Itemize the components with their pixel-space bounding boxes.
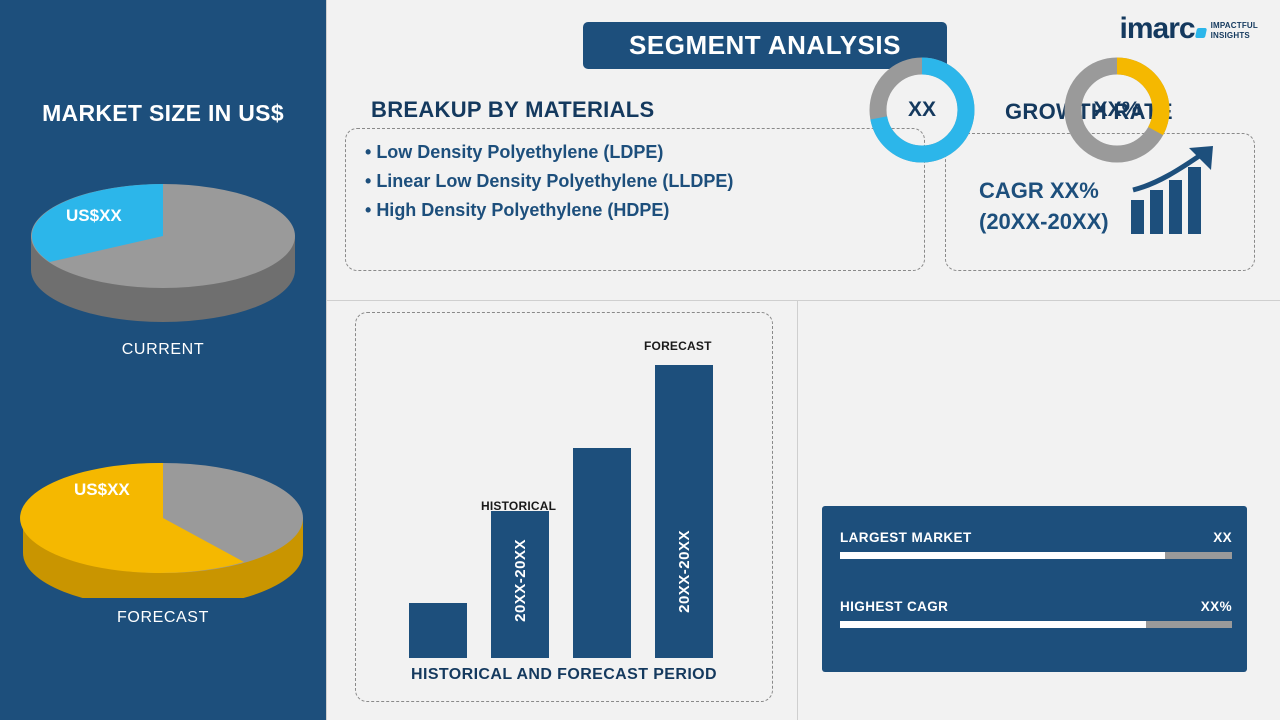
segment-analysis-banner-label: SEGMENT ANALYSIS	[629, 30, 901, 61]
cagr-line-1: CAGR XX%	[979, 175, 1109, 206]
stat-progress-fill	[840, 621, 1146, 628]
imarc-logo-accent-icon	[1195, 28, 1207, 38]
stat-progress-track	[840, 621, 1232, 628]
stat-progress-track	[840, 552, 1232, 559]
period-chart-caption: HISTORICAL AND FORECAST PERIOD	[355, 666, 773, 684]
vertical-divider	[797, 301, 798, 720]
current-pie-value: US$XX	[66, 206, 122, 226]
materials-list-item: Linear Low Density Polyethylene (LLDPE)	[365, 167, 733, 196]
current-pie-svg	[0, 150, 326, 330]
historical-forecast-bar-chart: 20XX-20XX HISTORICAL 20XX-20XX FORECAST …	[355, 312, 773, 702]
stat-label: HIGHEST CAGR	[840, 599, 948, 614]
bar-4: 20XX-20XX	[655, 365, 713, 658]
forecast-tag: FORECAST	[644, 339, 712, 353]
horizontal-divider	[327, 300, 1280, 301]
highest-cagr-donut: XX%	[1062, 55, 1172, 165]
stat-label: LARGEST MARKET	[840, 530, 972, 545]
stat-header: HIGHEST CAGR XX%	[840, 599, 1232, 614]
forecast-pie-caption: FORECAST	[0, 609, 326, 627]
imarc-logo-tagline: IMPACTFUL INSIGHTS	[1211, 14, 1258, 41]
forecast-pie-value: US$XX	[74, 480, 130, 500]
forecast-pie-svg	[0, 418, 326, 598]
bar-2-label: 20XX-20XX	[512, 539, 529, 622]
historical-tag: HISTORICAL	[481, 499, 556, 513]
cagr-line-2: (20XX-20XX)	[979, 206, 1109, 237]
highest-cagr-donut-label: XX%	[1062, 55, 1172, 165]
stat-progress-fill	[840, 552, 1165, 559]
imarc-tagline-line2: INSIGHTS	[1211, 31, 1258, 41]
key-stats-card: LARGEST MARKET XX HIGHEST CAGR XX%	[822, 506, 1247, 672]
bar-2: 20XX-20XX	[491, 511, 549, 658]
forecast-pie-chart: US$XX FORECAST	[0, 418, 326, 627]
bar-4-label: 20XX-20XX	[676, 530, 693, 613]
materials-list-item: High Density Polyethylene (HDPE)	[365, 196, 733, 225]
stat-header: LARGEST MARKET XX	[840, 530, 1232, 545]
infographic-page: MARKET SIZE IN US$ US$XX CURRENT	[0, 0, 1280, 720]
current-pie-chart: US$XX CURRENT	[0, 150, 326, 359]
imarc-tagline-line1: IMPACTFUL	[1211, 21, 1258, 31]
stat-value: XX	[1213, 530, 1232, 545]
market-size-title: MARKET SIZE IN US$	[0, 100, 326, 127]
materials-list: Low Density Polyethylene (LDPE) Linear L…	[365, 138, 733, 225]
imarc-logo: imarc IMPACTFUL INSIGHTS	[1120, 14, 1258, 44]
bar-3	[573, 448, 631, 658]
imarc-logo-wordmark: imarc	[1120, 14, 1206, 44]
materials-section-title: BREAKUP BY MATERIALS	[371, 97, 654, 123]
stat-value: XX%	[1201, 599, 1232, 614]
cagr-text: CAGR XX% (20XX-20XX)	[979, 175, 1109, 237]
largest-market-donut-label: XX	[867, 55, 977, 165]
current-pie-caption: CURRENT	[0, 341, 326, 359]
materials-list-item: Low Density Polyethylene (LDPE)	[365, 138, 733, 167]
stat-row-largest-market: LARGEST MARKET XX	[840, 530, 1232, 559]
largest-market-donut: XX	[867, 55, 977, 165]
stat-row-highest-cagr: HIGHEST CAGR XX%	[840, 599, 1232, 628]
bar-1	[409, 603, 467, 658]
market-size-panel: MARKET SIZE IN US$ US$XX CURRENT	[0, 0, 326, 720]
imarc-logo-text: imarc	[1120, 12, 1195, 45]
